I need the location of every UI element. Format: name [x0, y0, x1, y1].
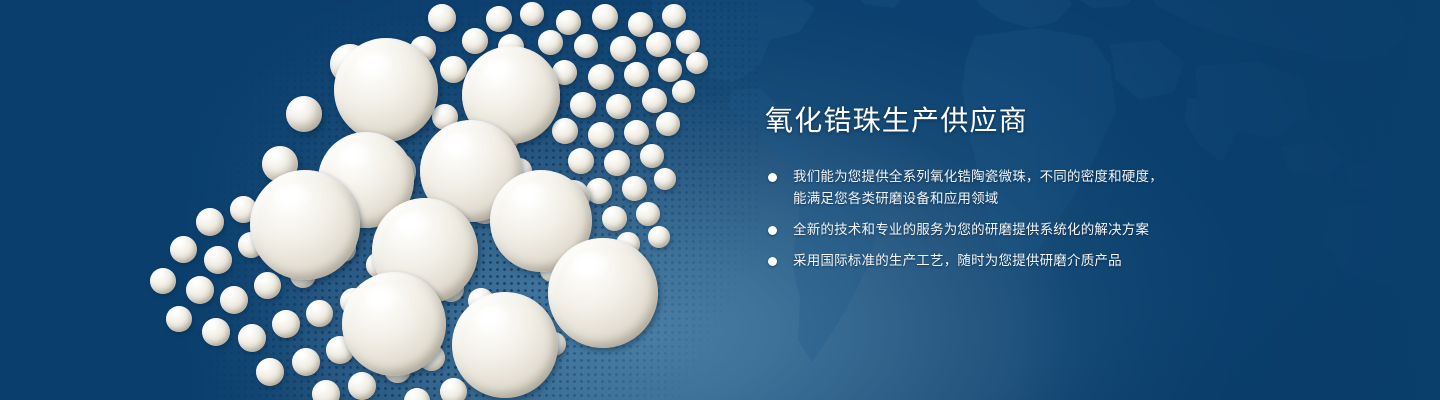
list-item: 我们能为您提供全系列氧化锆陶瓷微珠，不同的密度和硬度， 能满足您各类研磨设备和应…	[765, 166, 1285, 210]
bullet-line: 全新的技术和专业的服务为您的研磨提供系统化的解决方案	[793, 219, 1285, 241]
hero-banner: 氧化锆珠生产供应商 我们能为您提供全系列氧化锆陶瓷微珠，不同的密度和硬度， 能满…	[0, 0, 1440, 400]
bullet-line: 采用国际标准的生产工艺，随时为您提供研磨介质产品	[793, 250, 1285, 272]
list-item: 全新的技术和专业的服务为您的研磨提供系统化的解决方案	[765, 219, 1285, 241]
feature-list: 我们能为您提供全系列氧化锆陶瓷微珠，不同的密度和硬度， 能满足您各类研磨设备和应…	[765, 166, 1285, 272]
bullet-line: 我们能为您提供全系列氧化锆陶瓷微珠，不同的密度和硬度，	[793, 166, 1285, 188]
dot-bullet-icon	[768, 226, 777, 235]
dot-bullet-icon	[768, 173, 777, 182]
zirconia-beads-image	[0, 0, 760, 400]
page-title: 氧化锆珠生产供应商	[765, 104, 1285, 138]
list-item: 采用国际标准的生产工艺，随时为您提供研磨介质产品	[765, 250, 1285, 272]
bullet-line: 能满足您各类研磨设备和应用领域	[793, 188, 1285, 210]
dot-bullet-icon	[768, 257, 777, 266]
banner-copy: 氧化锆珠生产供应商 我们能为您提供全系列氧化锆陶瓷微珠，不同的密度和硬度， 能满…	[765, 104, 1285, 272]
